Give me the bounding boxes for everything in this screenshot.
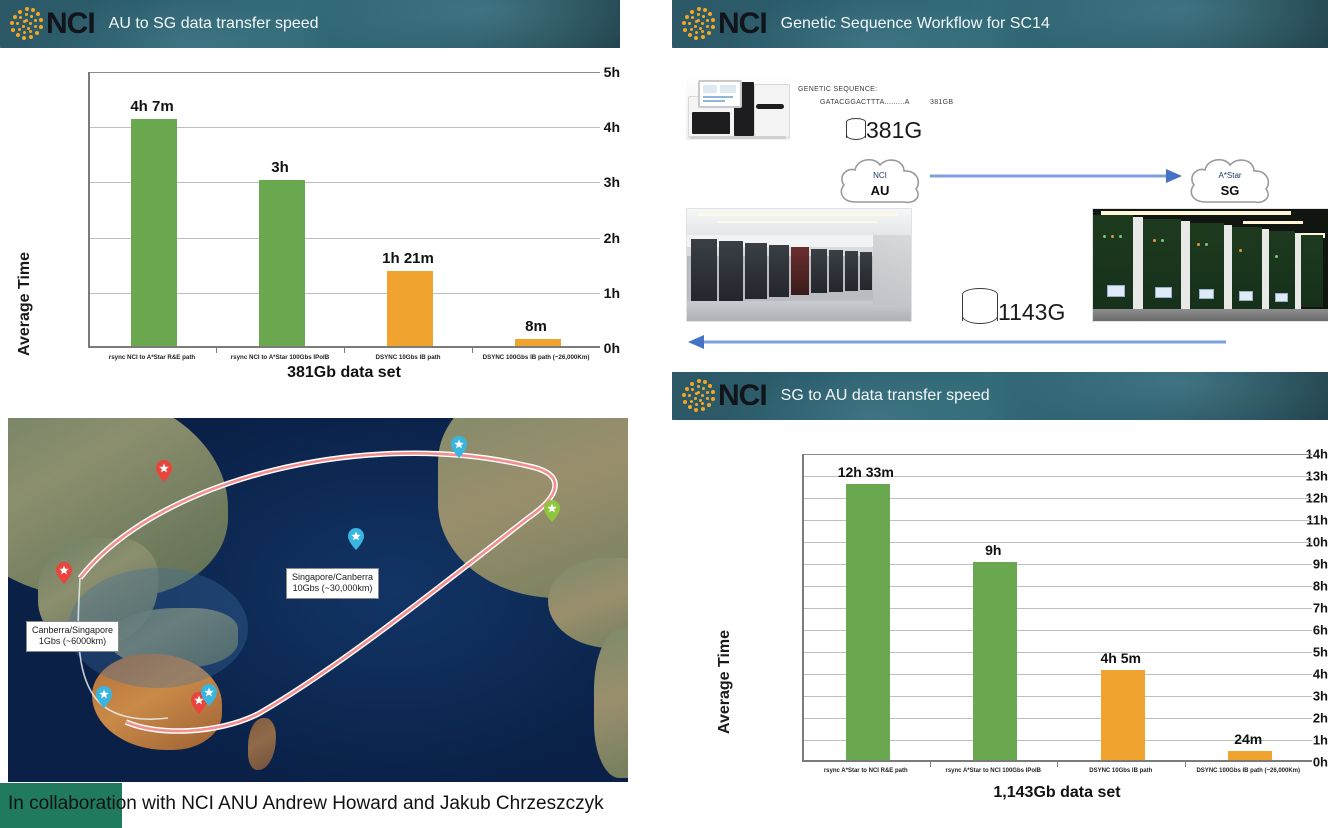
x-tick-mark: [472, 348, 473, 353]
pin-seattle[interactable]: [451, 436, 467, 452]
download-volume-label: 1143G: [998, 299, 1065, 326]
x-tick-mark: [216, 348, 217, 353]
arrow-left-icon: [686, 334, 1226, 350]
x-tick-label: rsync NCI to A*Star 100Gbs IPoIB: [231, 354, 329, 361]
chart2-x-axis-title: 1,143Gb data set: [802, 784, 1312, 802]
upload-volume-cylinder-icon: [846, 118, 866, 142]
x-tick-label: DSYNC 10Gbs IB path: [376, 354, 441, 361]
map-label-1-line1: Singapore/Canberra: [292, 572, 373, 583]
nci-logo-sg-to-au: NCI: [682, 379, 767, 413]
bar-value-label: 24m: [1234, 731, 1262, 747]
nci-spiral-logo-icon: [10, 7, 44, 41]
nci-datacenter-photo: [686, 208, 912, 322]
cloud-shape-icon: [1184, 152, 1276, 212]
genetic-sequence-size: 381GB: [930, 99, 953, 106]
x-tick-label: rsync A*Star to NCI R&E path: [824, 768, 908, 774]
pin-singapore[interactable]: [56, 562, 72, 578]
chart1-y-axis-label: Average Time: [16, 252, 34, 356]
workflow-diagram: GENETIC SEQUENCE: GATACGGACTTTA.........…: [672, 56, 1328, 366]
x-tick-mark: [930, 762, 931, 767]
cloud-shape-icon: [834, 152, 926, 212]
cloud-nci-au: NCI AU: [834, 152, 926, 212]
download-volume-cylinder-icon: [962, 288, 998, 328]
map-label-singapore-canberra: Singapore/Canberra 10Gbs (~30,000km): [286, 568, 379, 599]
chart2-plot-area: [802, 454, 1312, 762]
banner-workflow: NCI Genetic Sequence Workflow for SC14: [672, 0, 1328, 48]
banner-sg-to-au: NCI SG to AU data transfer speed: [672, 372, 1328, 420]
pin-texas[interactable]: [544, 500, 560, 516]
pin-japan[interactable]: [156, 460, 172, 476]
astar-datacenter-photo: [1092, 208, 1328, 322]
bar-value-label: 8m: [525, 318, 547, 335]
pin-hawaii[interactable]: [348, 528, 364, 544]
gridline: [90, 72, 600, 73]
x-tick-label: DSYNC 100Gbs IB path (~26,000Km): [1196, 768, 1300, 774]
upload-volume-label: 381G: [866, 117, 922, 144]
map-label-canberra-singapore: Canberra/Singapore 1Gbs (~6000km): [26, 621, 119, 652]
dna-sequencer-photo: [686, 78, 790, 140]
world-map-route[interactable]: Singapore/Canberra 10Gbs (~30,000km) Can…: [8, 418, 628, 782]
x-tick-mark: [1057, 762, 1058, 767]
bar: [846, 484, 890, 760]
x-tick-mark: [1185, 762, 1186, 767]
network-route-path: [8, 418, 628, 782]
bar-value-label: 12h 33m: [838, 464, 894, 480]
map-label-2-line2: 1Gbs (~6000km): [32, 636, 113, 647]
bar: [1228, 751, 1272, 760]
chart1-x-axis-title: 381Gb data set: [88, 364, 600, 382]
banner-title-workflow: Genetic Sequence Workflow for SC14: [781, 15, 1050, 33]
bar-value-label: 3h: [271, 159, 289, 176]
bar-value-label: 4h 5m: [1101, 650, 1141, 666]
x-tick-label: DSYNC 100Gbs IB path (~26,000Km): [483, 354, 590, 361]
banner-title-sg-to-au: SG to AU data transfer speed: [781, 387, 990, 405]
nci-spiral-logo-icon: [682, 379, 716, 413]
chart-sg-to-au: Average Time 0h1h2h3h4h5h6h7h8h9h10h11h1…: [672, 432, 1328, 828]
nci-wordmark: NCI: [46, 9, 95, 39]
cloud-sg-bottom-label: SG: [1184, 183, 1276, 198]
nci-logo: NCI: [10, 7, 95, 41]
chart2-y-axis-label: Average Time: [716, 630, 734, 734]
bar: [1101, 670, 1145, 760]
bar-value-label: 1h 21m: [382, 250, 434, 267]
map-label-1-line2: 10Gbs (~30,000km): [292, 583, 373, 594]
bar: [973, 562, 1017, 760]
genetic-sequence-caption: GENETIC SEQUENCE:: [798, 86, 877, 93]
cloud-au-bottom-label: AU: [834, 183, 926, 198]
bar: [259, 180, 305, 346]
x-tick-mark: [344, 348, 345, 353]
banner-title-au-to-sg: AU to SG data transfer speed: [109, 15, 319, 33]
bar: [131, 119, 177, 346]
map-label-2-line1: Canberra/Singapore: [32, 625, 113, 636]
nci-logo-workflow: NCI: [682, 7, 767, 41]
x-tick-label: rsync A*Star to NCI 100Gbs IPoIB: [946, 768, 1041, 774]
bar-value-label: 9h: [985, 542, 1001, 558]
pin-sydney[interactable]: [201, 684, 217, 700]
cloud-sg-top-label: A*Star: [1184, 171, 1276, 180]
nci-wordmark: NCI: [718, 9, 767, 39]
bar-value-label: 4h 7m: [130, 98, 173, 115]
nci-spiral-logo-icon: [682, 7, 716, 41]
bar: [387, 271, 433, 346]
x-tick-label: rsync NCI to A*Star R&E path: [109, 354, 195, 361]
footer-caption: In collaboration with NCI ANU Andrew How…: [8, 793, 604, 815]
banner-au-to-sg: NCI AU to SG data transfer speed: [0, 0, 620, 48]
cloud-au-top-label: NCI: [834, 171, 926, 180]
x-tick-label: DSYNC 10Gbs IB path: [1089, 768, 1152, 774]
arrow-right-icon: [930, 168, 1184, 184]
chart-au-to-sg: Average Time 0h1h2h3h4h5h rsync NCI to A…: [0, 56, 620, 386]
cloud-astar-sg: A*Star SG: [1184, 152, 1276, 212]
pin-perth[interactable]: [96, 686, 112, 702]
bar: [515, 339, 561, 346]
nci-wordmark: NCI: [718, 381, 767, 411]
gridline: [804, 454, 1312, 455]
genetic-sequence-string: GATACGGACTTTA.........A: [820, 99, 910, 106]
